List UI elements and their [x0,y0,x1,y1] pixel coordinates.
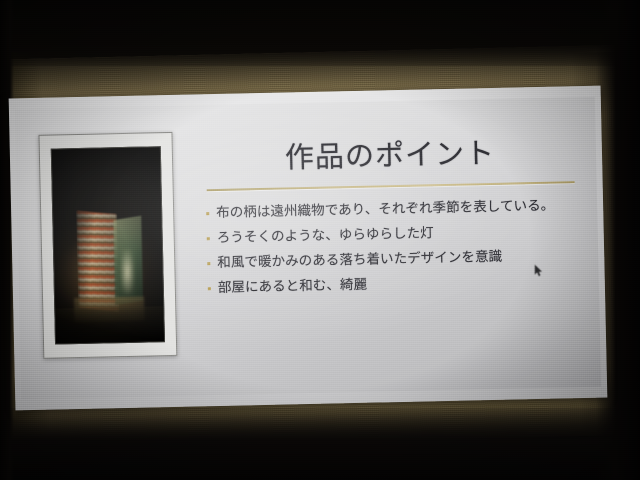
bullet-list: 布の柄は遠州織物であり、それぞれ季節を表している。 ろうそくのような、ゆらゆらし… [205,197,579,299]
title-divider-rule [207,182,575,192]
list-item: 布の柄は遠州織物であり、それぞれ季節を表している。 [205,197,577,225]
slide-photo-column [15,105,201,399]
photo-vignette [52,147,164,343]
slide-title: 作品のポイント [204,135,577,176]
projected-slide-photograph: 作品のポイント 布の柄は遠州織物であり、それぞれ季節を表している。 ろうそくのよ… [0,0,640,480]
presentation-slide[interactable]: 作品のポイント 布の柄は遠州織物であり、それぞれ季節を表している。 ろうそくのよ… [15,97,601,400]
slide-content-column: 作品のポイント 布の柄は遠州織物であり、それぞれ季節を表している。 ろうそくのよ… [195,97,601,396]
list-item: 部屋にあると和む、綺麗 [207,271,579,299]
lamp-photograph [51,146,165,344]
room-dark-band-bottom [0,408,640,480]
photo-frame [38,132,177,359]
room-dark-band-top [0,0,640,66]
list-item: 和風で暖かみのある落ち着いたデザインを意識 [206,246,578,274]
list-item: ろうそくのような、ゆらゆらした灯 [206,221,578,249]
projection-screen: 作品のポイント 布の柄は遠州織物であり、それぞれ季節を表している。 ろうそくのよ… [9,86,608,411]
